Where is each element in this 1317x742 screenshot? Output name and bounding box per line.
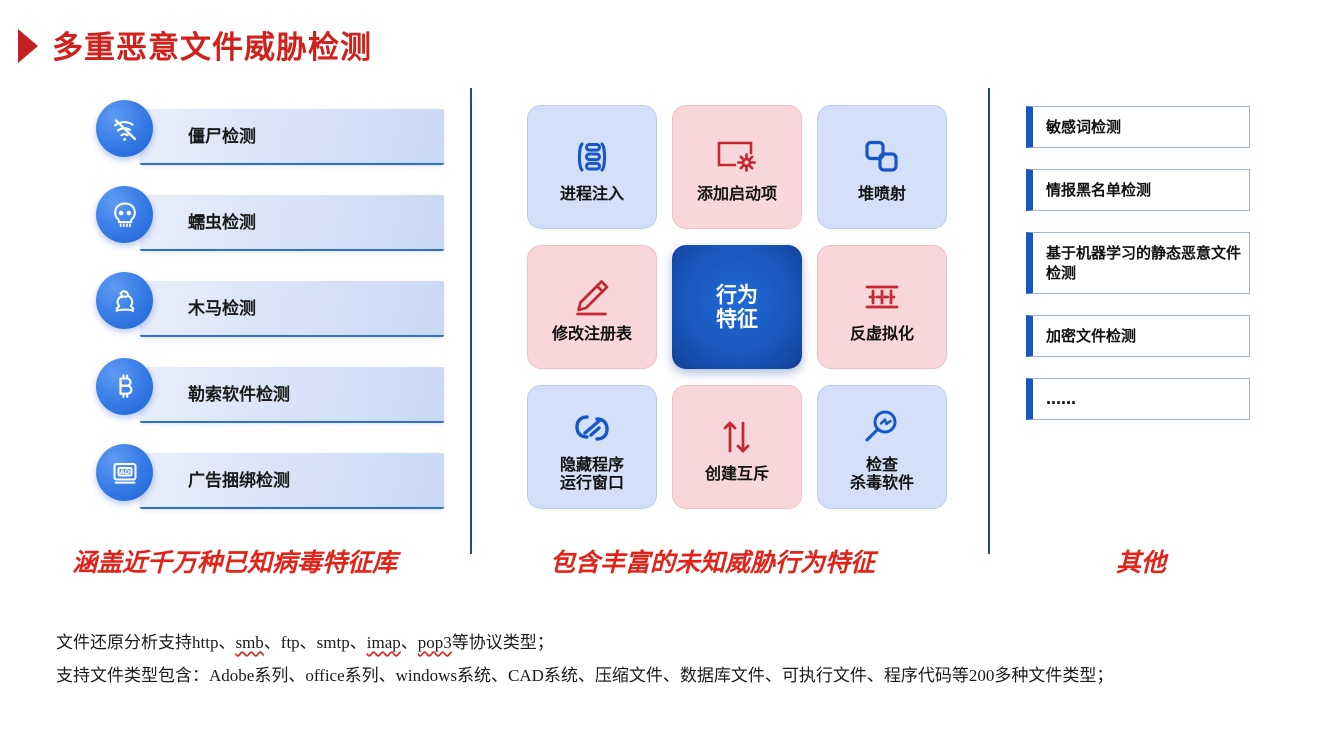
mutex-arrows-icon (716, 411, 758, 463)
list-item-label: 蠕虫检测 (188, 208, 256, 233)
list-item[interactable]: 木马检测 (96, 272, 456, 358)
left-item-bar (140, 367, 444, 423)
list-item[interactable]: 情报黑名单检测 (1026, 169, 1250, 211)
list-item[interactable]: 蠕虫检测 (96, 186, 456, 272)
grid-card-label: 隐藏程序 运行窗口 (560, 456, 624, 493)
footer-text: 等协议类型； (452, 633, 554, 652)
list-item-label: 木马检测 (188, 294, 256, 319)
grid-card-label: 行为 特征 (716, 283, 758, 331)
edit-pencil-icon (569, 271, 615, 323)
footer-notes: 文件还原分析支持http、smb、ftp、smtp、imap、pop3等协议类型… (56, 626, 1296, 692)
footer-misspelled-smb: smb (235, 633, 263, 652)
trojan-horse-icon (96, 272, 153, 329)
footer-text: 、ftp、smtp、 (264, 633, 367, 652)
footer-line-1: 文件还原分析支持http、smb、ftp、smtp、imap、pop3等协议类型… (56, 626, 1296, 659)
list-item[interactable]: 基于机器学习的静态恶意文件检测 (1026, 232, 1250, 294)
grid-card-create-mutex[interactable]: 创建互斥 (672, 385, 802, 509)
footer-misspelled-pop3: pop3 (418, 633, 452, 652)
bitcoin-icon (96, 358, 153, 415)
right-column-caption: 其他 (1116, 543, 1166, 579)
footer-line-2: 支持文件类型包含：Adobe系列、office系列、windows系统、CAD系… (56, 659, 1296, 692)
grid-card-label: 创建互斥 (705, 465, 769, 483)
left-item-bar (140, 281, 444, 337)
magnifier-bolt-icon (860, 402, 904, 454)
list-item-label: 勒索软件检测 (188, 380, 290, 405)
right-column: 敏感词检测 情报黑名单检测 基于机器学习的静态恶意文件检测 加密文件检测 …… (1026, 106, 1250, 441)
grid-card-heap-spray[interactable]: 堆喷射 (817, 105, 947, 229)
list-item-label: …… (1046, 389, 1076, 409)
grid-card-process-inject[interactable]: 进程注入 (527, 105, 657, 229)
startup-item-icon (712, 131, 762, 183)
svg-text:AD: AD (119, 468, 129, 476)
list-item-label: 情报黑名单检测 (1046, 180, 1151, 200)
grid-card-check-antivirus[interactable]: 检查 杀毒软件 (817, 385, 947, 509)
grid-card-label: 堆喷射 (858, 185, 906, 203)
left-item-bar (140, 453, 444, 509)
list-item[interactable]: 僵尸检测 (96, 100, 456, 186)
page-title: 多重恶意文件威胁检测 (18, 22, 372, 67)
left-column-caption: 涵盖近千万种已知病毒特征库 (72, 543, 397, 579)
list-item[interactable]: 加密文件检测 (1026, 315, 1250, 357)
left-column: 僵尸检测 蠕虫检测 (96, 100, 456, 530)
process-inject-icon (569, 131, 615, 183)
grid-card-hidden-window[interactable]: 隐藏程序 运行窗口 (527, 385, 657, 509)
grid-card-behavior-feature[interactable]: 行为 特征 (672, 245, 802, 369)
list-item-label: 基于机器学习的静态恶意文件检测 (1046, 243, 1241, 284)
grid-card-edit-registry[interactable]: 修改注册表 (527, 245, 657, 369)
list-item[interactable]: AD 广告捆绑检测 (96, 444, 456, 530)
grid-card-label: 检查 杀毒软件 (850, 456, 914, 493)
grid-card-label: 修改注册表 (552, 325, 632, 343)
grid-card-label: 反虚拟化 (850, 325, 914, 343)
column-divider-left (470, 88, 472, 554)
list-item-label: 加密文件检测 (1046, 326, 1136, 346)
list-item-label: 广告捆绑检测 (188, 466, 290, 491)
list-item[interactable]: 勒索软件检测 (96, 358, 456, 444)
list-item[interactable]: 敏感词检测 (1026, 106, 1250, 148)
heap-spray-icon (860, 131, 904, 183)
triangle-marker-icon (18, 29, 38, 63)
footer-misspelled-imap: imap (367, 633, 401, 652)
page-title-text: 多重恶意文件威胁检测 (52, 22, 372, 67)
grid-card-label: 添加启动项 (697, 185, 777, 203)
left-item-bar (140, 109, 444, 165)
footer-text: 、 (401, 633, 418, 652)
middle-grid-caption: 包含丰富的未知威胁行为特征 (550, 543, 875, 579)
skull-icon (96, 186, 153, 243)
list-item-label: 敏感词检测 (1046, 117, 1121, 137)
grid-card-anti-vm[interactable]: 反虚拟化 (817, 245, 947, 369)
left-item-bar (140, 195, 444, 251)
middle-grid: 进程注入 添加启动项 (527, 105, 947, 509)
hidden-window-icon (568, 402, 616, 454)
grid-card-label: 进程注入 (560, 185, 624, 203)
list-item[interactable]: …… (1026, 378, 1250, 420)
list-item-label: 僵尸检测 (188, 122, 256, 147)
column-divider-right (988, 88, 990, 554)
slide-root: 多重恶意文件威胁检测 僵尸检测 (0, 0, 1317, 742)
anti-vm-icon (859, 271, 905, 323)
footer-text: 文件还原分析支持http、 (56, 633, 235, 652)
ad-screen-icon: AD (96, 444, 153, 501)
wifi-off-icon (96, 100, 153, 157)
grid-card-startup-item[interactable]: 添加启动项 (672, 105, 802, 229)
